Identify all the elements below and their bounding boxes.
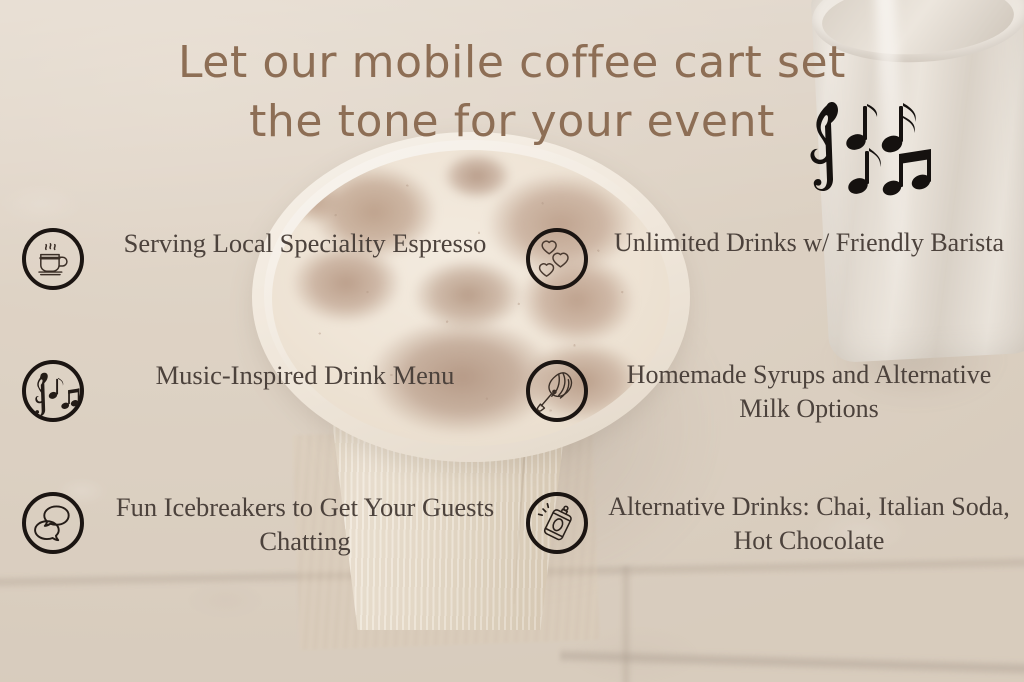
feature-label: Music-Inspired Drink Menu (98, 356, 512, 392)
feature-grid: Serving Local Speciality Espresso Unlimi… (22, 218, 1016, 614)
feature-label: Serving Local Speciality Espresso (98, 224, 512, 260)
feature-item-music-menu: Music-Inspired Drink Menu (22, 350, 512, 482)
speech-bubbles-icon (22, 492, 84, 554)
hearts-icon (526, 228, 588, 290)
feature-label: Unlimited Drinks w/ Friendly Barista (602, 224, 1016, 260)
feature-item-icebreakers: Fun Icebreakers to Get Your Guests Chatt… (22, 482, 512, 614)
headline-line-2: the tone for your event (249, 93, 775, 152)
music-notes-icon (22, 360, 84, 422)
feature-item-alternative-drinks: Alternative Drinks: Chai, Italian Soda, … (526, 482, 1016, 614)
feature-label: Fun Icebreakers to Get Your Guests Chatt… (98, 488, 512, 559)
feature-label: Alternative Drinks: Chai, Italian Soda, … (602, 488, 1016, 558)
music-notes-decoration (806, 96, 938, 200)
promo-poster: Let our mobile coffee cart set the tone … (0, 0, 1024, 682)
soda-can-icon (526, 492, 588, 554)
whisk-icon (526, 360, 588, 422)
music-notes-cluster-icon (806, 96, 938, 200)
feature-label: Homemade Syrups and Alternative Milk Opt… (602, 356, 1016, 426)
feature-item-unlimited-drinks: Unlimited Drinks w/ Friendly Barista (526, 218, 1016, 350)
coffee-cup-icon (22, 228, 84, 290)
headline-line-1: Let our mobile coffee cart set (178, 37, 846, 88)
feature-item-syrups-milks: Homemade Syrups and Alternative Milk Opt… (526, 350, 1016, 482)
feature-item-espresso: Serving Local Speciality Espresso (22, 218, 512, 350)
